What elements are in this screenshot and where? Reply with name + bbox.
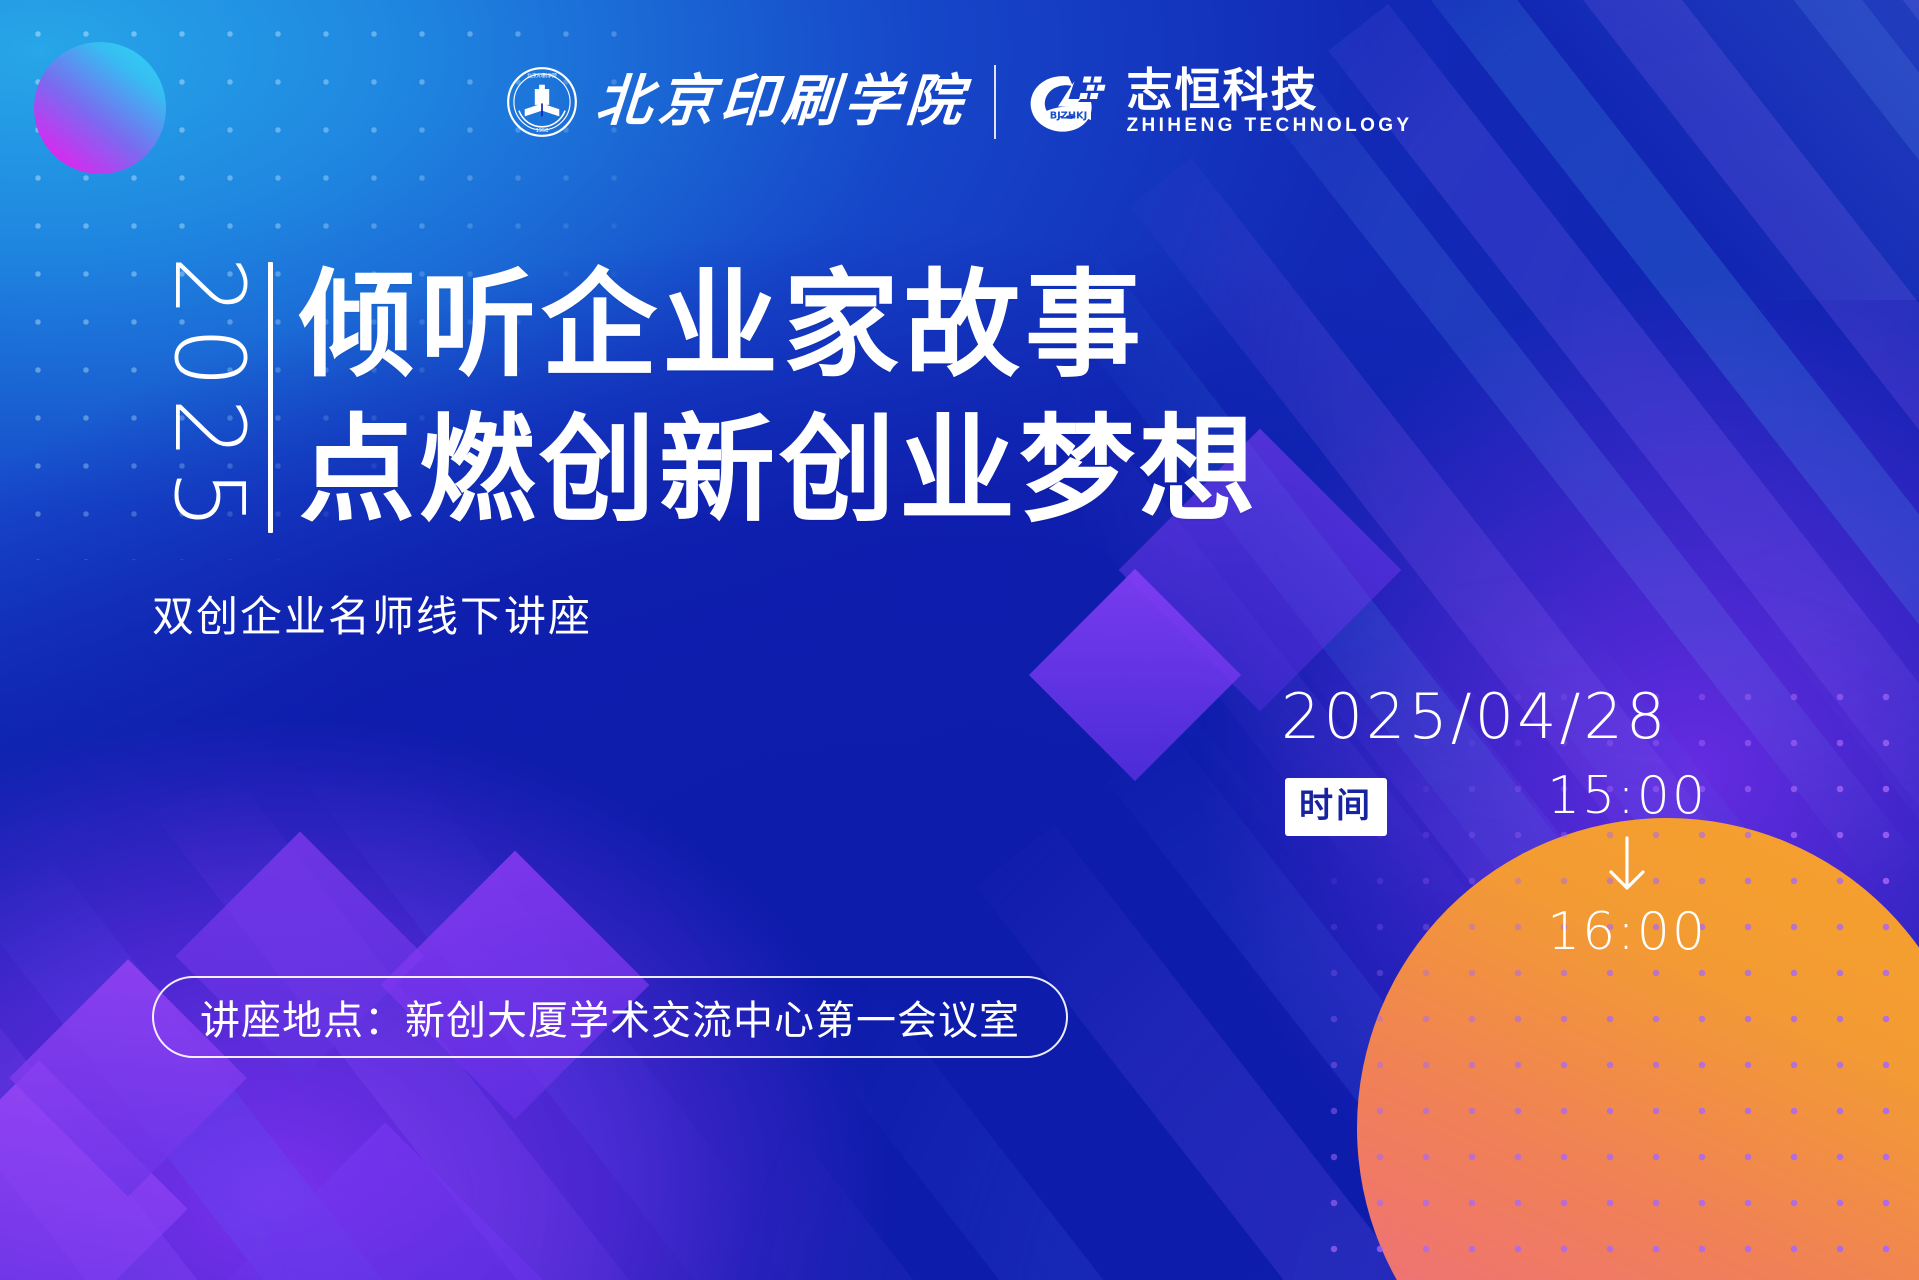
company-name-cn: 志恒科技 [1126,67,1412,115]
down-arrow-icon [1605,836,1649,894]
time-label-badge: 时间 [1285,778,1387,836]
zhiheng-mark-inner-text: BJZHKJ [1050,111,1087,122]
location-pill: 讲座地点：新创大厦学术交流中心第一会议室 [152,976,1068,1058]
zhiheng-g-swoosh-mark-icon: BJZHKJ [1022,64,1112,140]
company-logo: BJZHKJ 志恒科技 ZHIHENG TECHNOLOGY [1022,64,1412,140]
subtitle-text: 双创企业名师线下讲座 [152,596,592,638]
start-time: 15:00 [1547,770,1707,822]
location-text: 讲座地点：新创大厦学术交流中心第一会议室 [200,988,1020,1046]
title-lines: 倾听企业家故事 点燃创新创业梦想 [299,258,1259,537]
year-text: 2025 [161,255,257,539]
datetime-block: 2025/04/28 时间 15:00 16:00 [1281,686,1801,976]
title-block: 2025 倾听企业家故事 点燃创新创业梦想 [150,258,1259,537]
logo-divider [994,65,996,139]
title-line-2: 点燃创新创业梦想 [299,403,1259,538]
bjgy-university-emblem-icon: 北京印刷学院 1958 [506,66,578,138]
svg-text:1958: 1958 [536,128,549,134]
company-name-en: ZHIHENG TECHNOLOGY [1126,116,1412,137]
year-vertical: 2025 [150,258,268,537]
time-range: 15:00 16:00 [1477,770,1777,958]
title-line-1: 倾听企业家故事 [299,258,1259,393]
company-name-block: 志恒科技 ZHIHENG TECHNOLOGY [1126,67,1412,138]
event-date: 2025/04/28 [1281,686,1668,748]
university-logo: 北京印刷学院 1958 北京印刷学院 [506,66,968,138]
end-time: 16:00 [1547,906,1707,958]
header-logo-row: 北京印刷学院 1958 北京印刷学院 [0,64,1919,140]
title-vertical-rule [268,262,273,533]
svg-text:北京印刷学院: 北京印刷学院 [527,73,557,80]
university-name: 北京印刷学院 [595,74,971,130]
event-poster: 北京印刷学院 1958 北京印刷学院 [0,0,1919,1280]
